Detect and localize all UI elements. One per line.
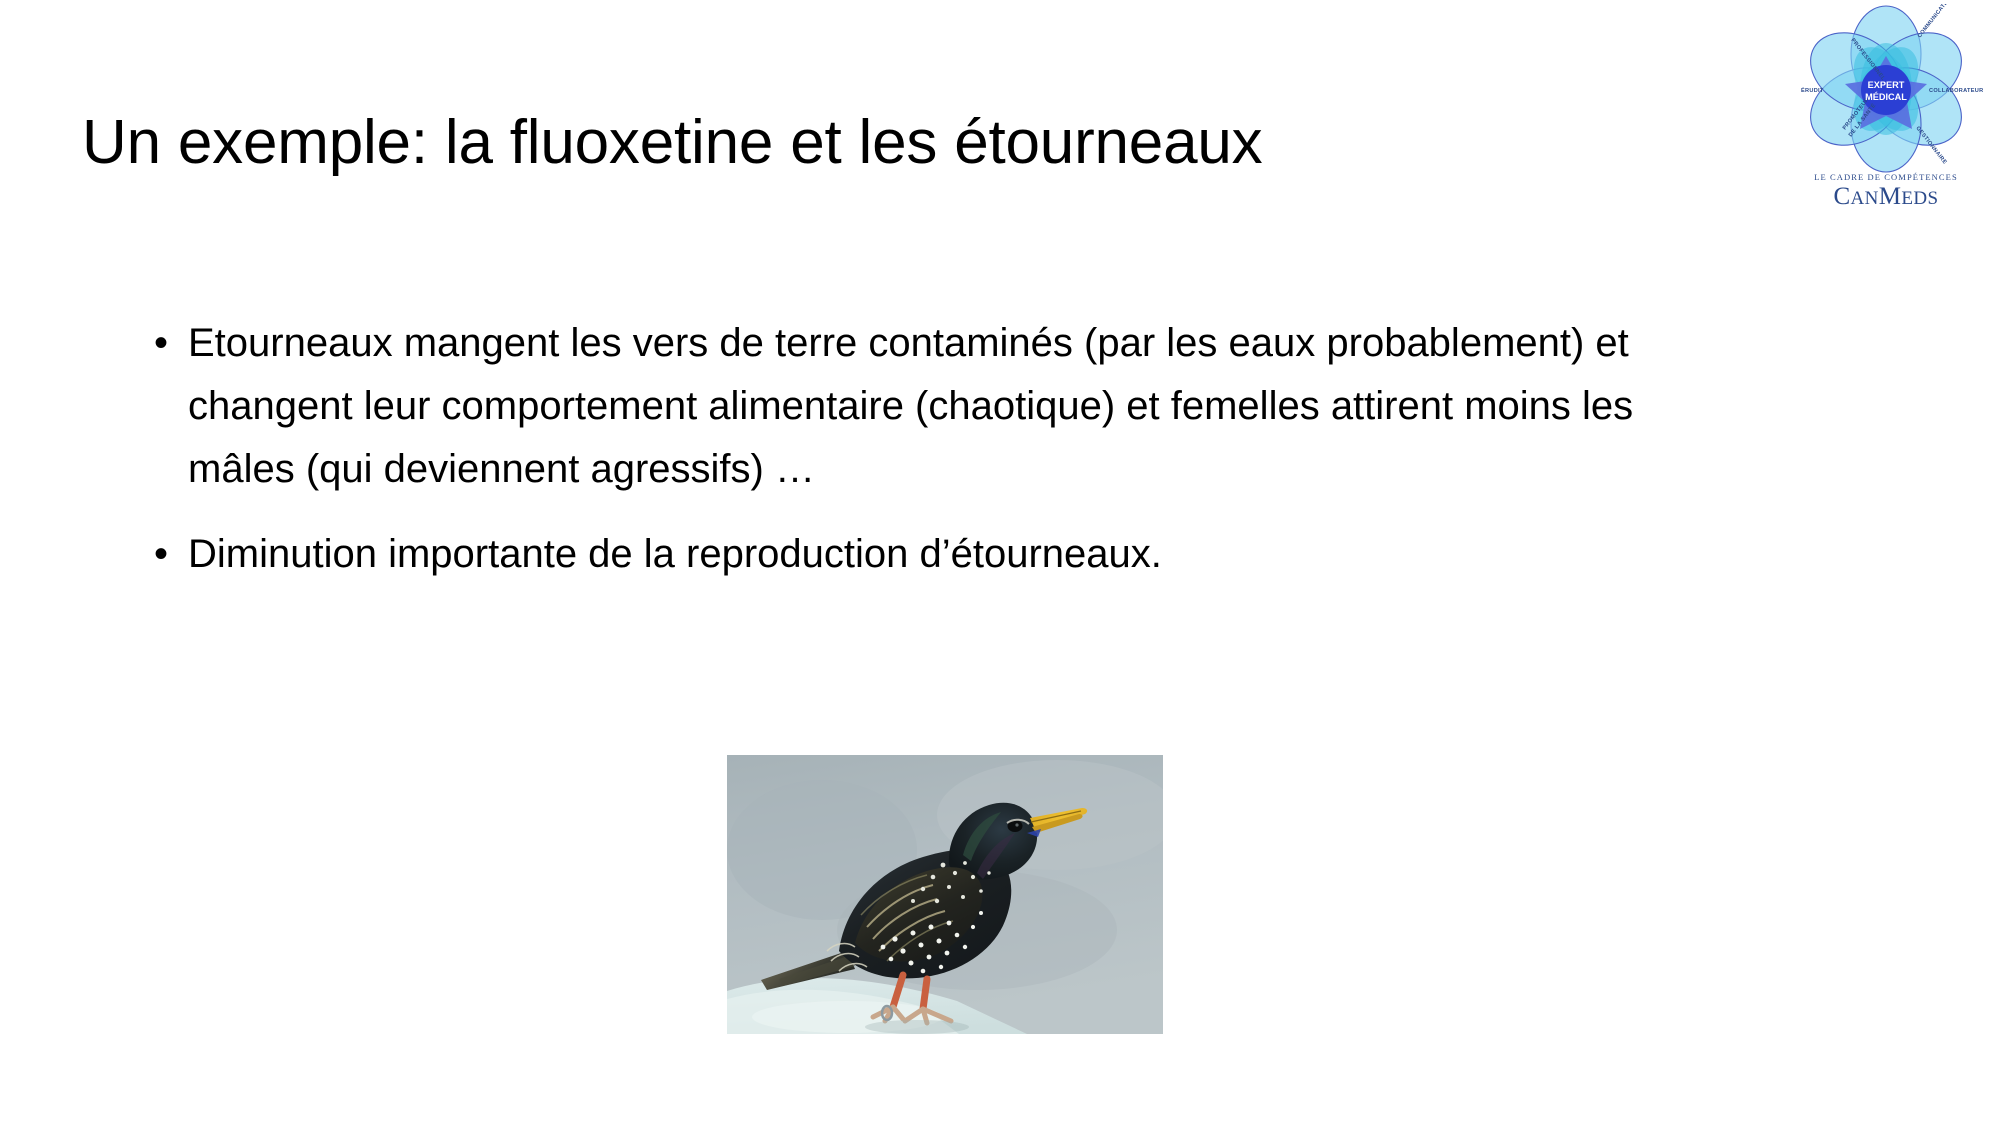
list-item: • Etourneaux mangent les vers de terre c… xyxy=(150,312,1750,501)
wordmark-m: M xyxy=(1879,183,1902,210)
bullet-marker-icon: • xyxy=(150,523,188,586)
canmeds-wordmark: LE CADRE DE COMPÉTENCES CANMEDS xyxy=(1788,172,1984,212)
slide-title: Un exemple: la fluoxetine et les étourne… xyxy=(82,108,1762,177)
bullet-text: Diminution importante de la reproduction… xyxy=(188,523,1750,586)
canmeds-logo: PROFESSIONNEL COMMUNICATEUR COLLABORATEU… xyxy=(1788,4,1984,226)
bullet-list: • Etourneaux mangent les vers de terre c… xyxy=(150,312,1750,604)
wordmark-c: C xyxy=(1833,183,1850,210)
canmeds-flower-icon: PROFESSIONNEL COMMUNICATEUR COLLABORATEU… xyxy=(1788,4,1984,174)
canmeds-name: CANMEDS xyxy=(1788,183,1984,212)
starling-photo xyxy=(727,755,1163,1034)
logo-center-line-1: EXPERT xyxy=(1868,80,1905,90)
list-item: • Diminution importante de la reproducti… xyxy=(150,523,1750,586)
petal-label: ÉRUDIT xyxy=(1801,86,1824,94)
presentation-slide: Un exemple: la fluoxetine et les étourne… xyxy=(0,0,2000,1125)
canmeds-tagline: LE CADRE DE COMPÉTENCES xyxy=(1788,172,1984,183)
wordmark-an: AN xyxy=(1851,188,1879,209)
wordmark-eds: EDS xyxy=(1901,188,1938,209)
petal-label: COLLABORATEUR xyxy=(1929,88,1983,94)
logo-center-line-2: MÉDICAL xyxy=(1865,91,1907,102)
bullet-marker-icon: • xyxy=(150,312,188,375)
bullet-text: Etourneaux mangent les vers de terre con… xyxy=(188,312,1718,501)
